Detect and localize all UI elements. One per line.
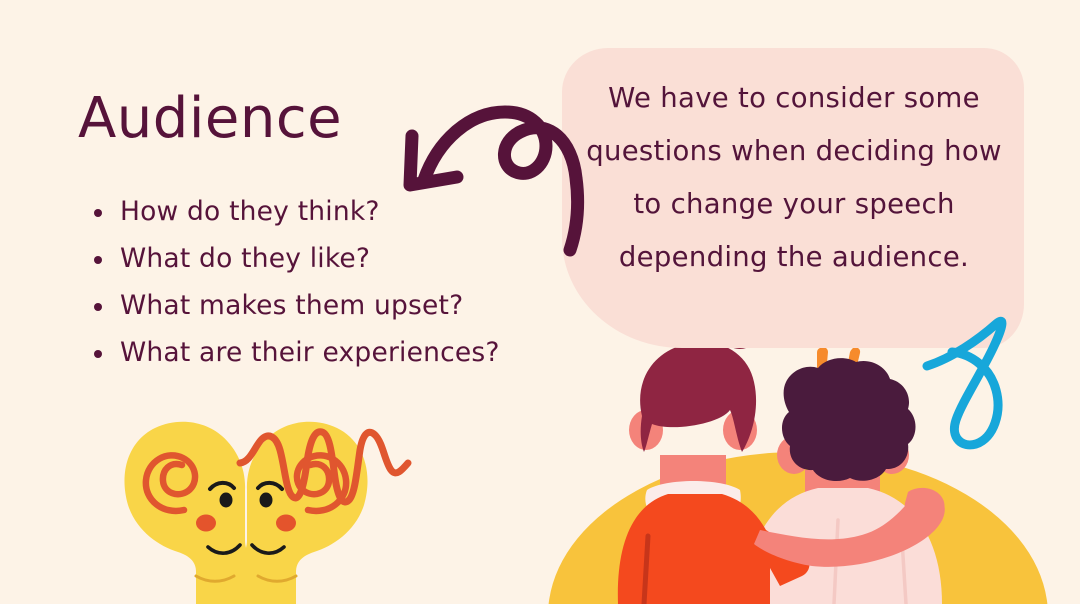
slide-canvas: We have to consider some questions when … bbox=[0, 0, 1080, 604]
blue-squiggle-icon bbox=[0, 0, 1080, 604]
